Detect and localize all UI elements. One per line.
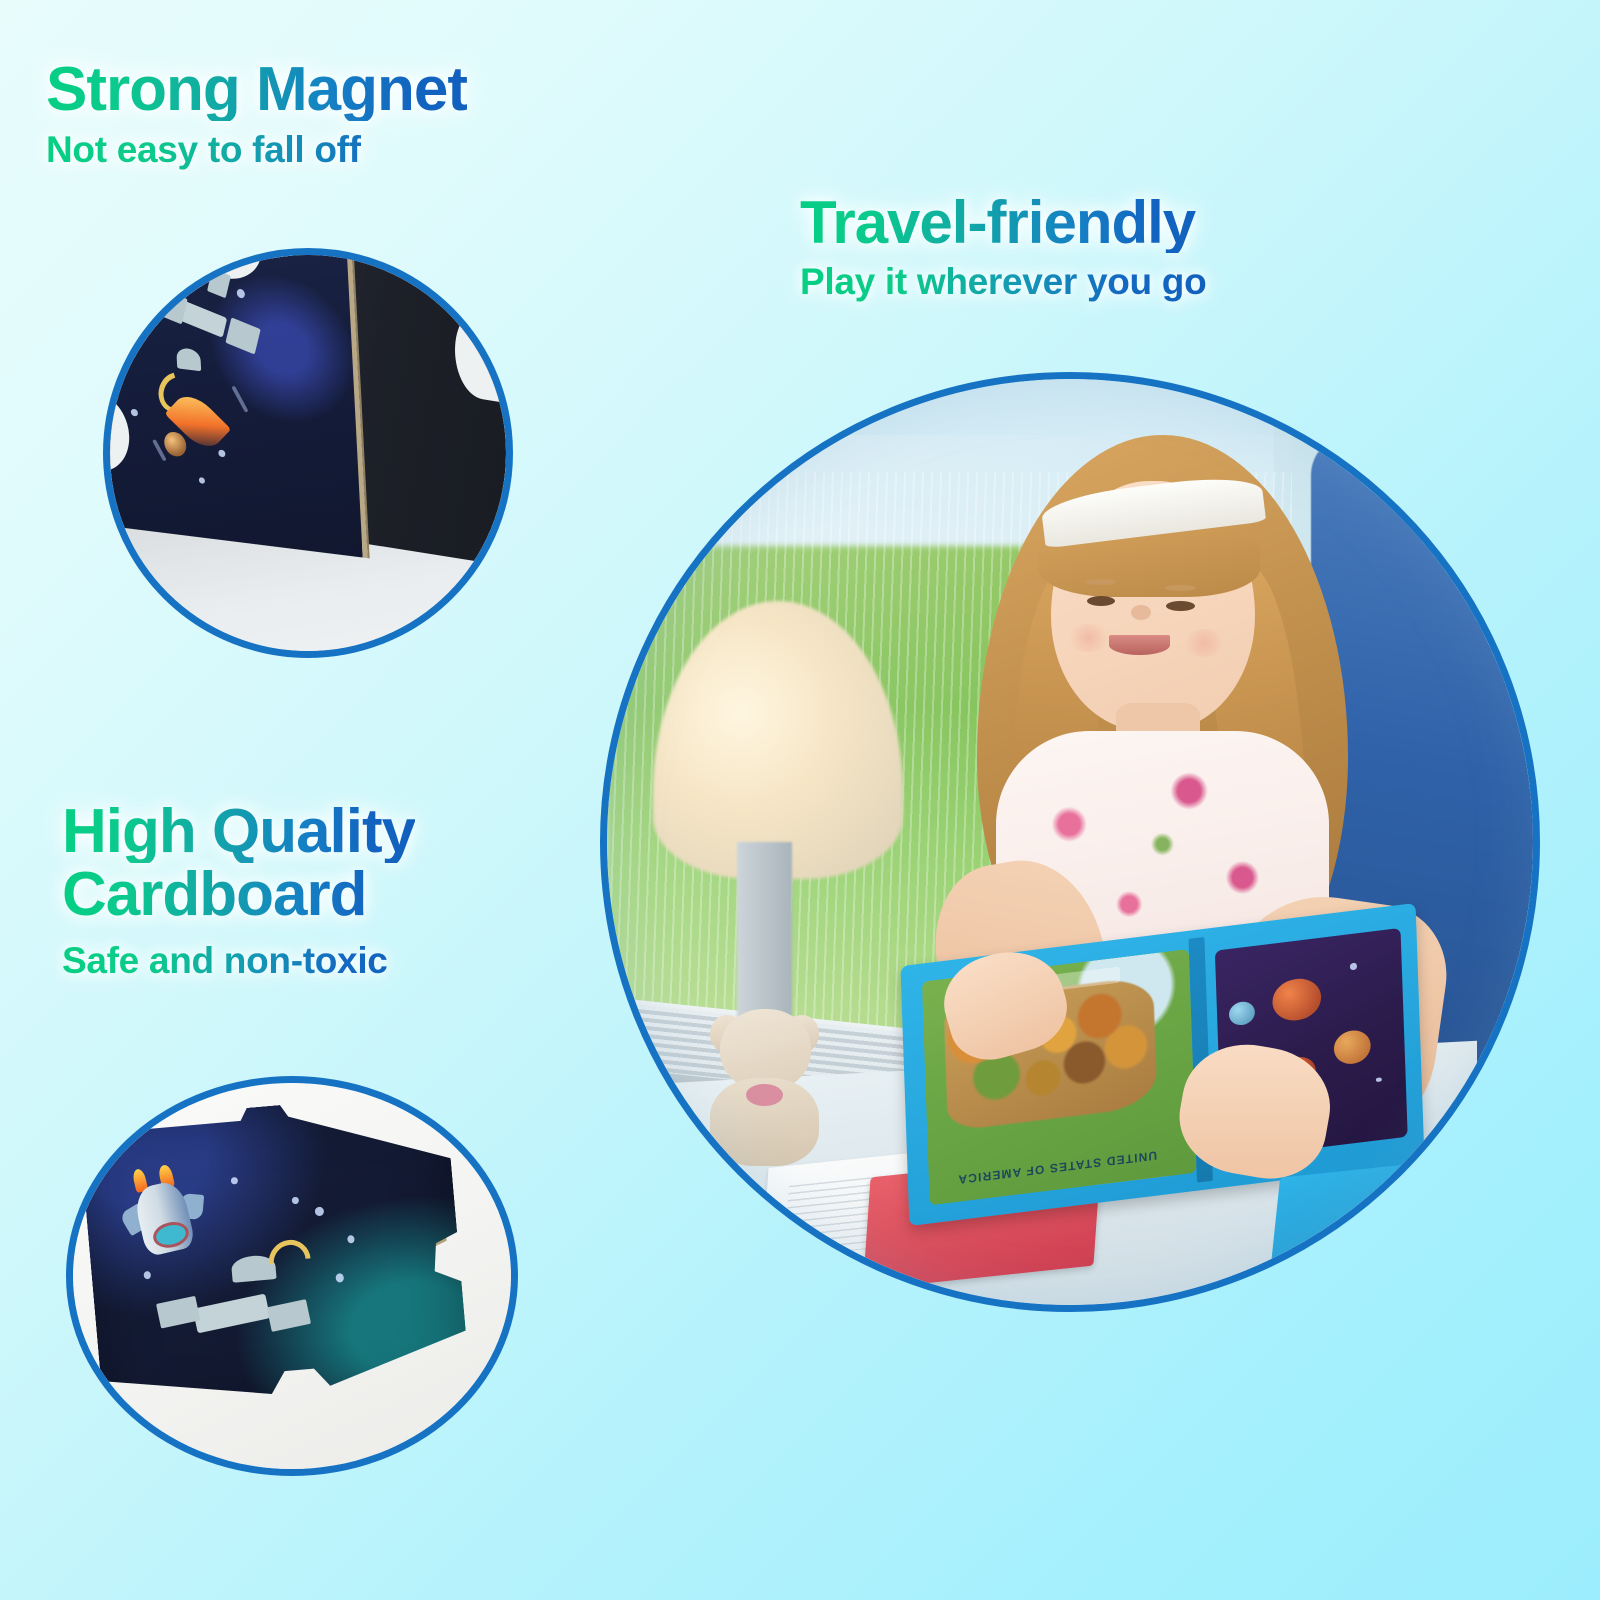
satellite-antenna-icon (208, 269, 232, 299)
feature-title-travel-friendly: Travel-friendly (800, 192, 1206, 253)
comet-head-icon (164, 431, 187, 458)
star-icon (346, 1235, 354, 1244)
star-icon (143, 1271, 151, 1280)
feature-heading-high-quality-cardboard: High Quality Cardboard Safe and non-toxi… (62, 800, 415, 981)
rocket-icon (109, 1156, 219, 1278)
infographic-stage: Strong Magnet Not easy to fall off (0, 0, 1600, 1600)
girl-cheek-left (1065, 624, 1111, 652)
satellite-panel-icon (266, 1299, 311, 1332)
satellite-panel-icon (155, 1296, 200, 1329)
feature-title-strong-magnet: Strong Magnet (46, 58, 467, 121)
feature-subtitle-strong-magnet: Not easy to fall off (46, 131, 467, 170)
star-streak (231, 386, 248, 413)
teddy-bear (700, 1009, 830, 1166)
star-icon (199, 477, 205, 484)
girl-cheek-right (1181, 629, 1227, 657)
satellite-panel-icon (226, 318, 261, 355)
feature-heading-travel-friendly: Travel-friendly Play it wherever you go (800, 192, 1206, 302)
star-icon (219, 449, 226, 458)
star-icon (1350, 962, 1358, 969)
girl-nose (1131, 605, 1151, 620)
feature-title-line1: High Quality (62, 800, 415, 863)
star-icon (291, 1197, 298, 1205)
photo-circle-strong-magnet (103, 248, 513, 658)
planet-jupiter (1272, 975, 1322, 1023)
star-icon (131, 408, 138, 416)
feature-heading-strong-magnet: Strong Magnet Not easy to fall off (46, 58, 467, 170)
photo-circle-high-quality-cardboard (66, 1076, 518, 1476)
planet-neptune (1228, 1000, 1255, 1026)
star-icon (237, 289, 246, 299)
photo-magnet-detail (110, 255, 506, 651)
star-icon (230, 1177, 237, 1185)
planet-saturn (1334, 1028, 1372, 1066)
satellite-dish-icon (176, 348, 201, 372)
photo-circle-travel-friendly: UNITED STATES OF AMERICA attic (600, 372, 1540, 1312)
cardboard-puzzle-piece (78, 1091, 471, 1431)
star-icon (314, 1207, 324, 1217)
girl-smile (1109, 635, 1170, 655)
feature-subtitle-high-quality-cardboard: Safe and non-toxic (62, 942, 415, 981)
puzzle-piece-space (110, 255, 368, 558)
girl-eye-left (1087, 596, 1116, 606)
satellite-panel-icon (152, 288, 187, 325)
feature-title-line2: Cardboard (62, 863, 415, 926)
satellite-body-icon (193, 1294, 270, 1333)
star-icon (335, 1273, 344, 1282)
puzzle-piece-printed-face (78, 1091, 471, 1431)
feature-subtitle-travel-friendly: Play it wherever you go (800, 263, 1206, 302)
photo-girl-on-train: UNITED STATES OF AMERICA attic (607, 379, 1533, 1305)
moon-icon (259, 1232, 318, 1291)
star-streak (120, 320, 136, 344)
photo-cardboard-detail (73, 1083, 511, 1469)
girl-brow-right (1164, 585, 1195, 591)
teddy-bow (746, 1084, 782, 1106)
star-icon (1376, 1076, 1382, 1082)
